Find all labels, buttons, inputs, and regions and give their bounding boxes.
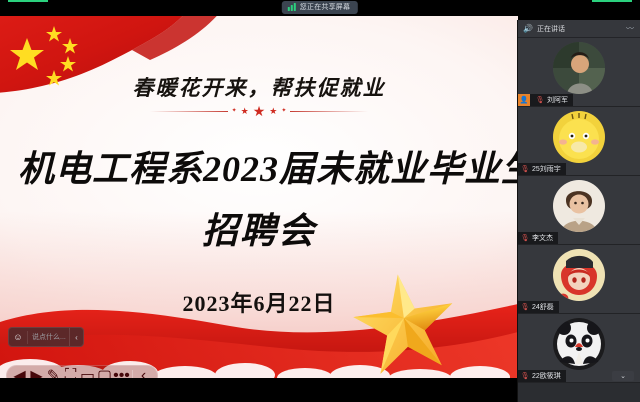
select-tool-button[interactable]: ⛶ <box>62 367 79 378</box>
participant-name: 22欧筱琪 <box>532 371 561 381</box>
participant-name-bar: 🎙 李文杰 <box>518 232 558 244</box>
participant-tile[interactable]: 🎙 22欧筱琪 ⌄ <box>518 314 640 383</box>
host-badge-icon: 👤 <box>518 94 530 106</box>
participant-name: 李文杰 <box>532 233 553 243</box>
sidebar-header: 🔊 正在讲话 〰 <box>518 20 640 38</box>
top-bar: 您正在共享屏幕 <box>0 0 640 16</box>
participant-name: 刘阿军 <box>547 95 568 105</box>
slide-subtitle: 春暖花开来，帮扶促就业 <box>0 72 518 102</box>
participant-tile[interactable]: 🎙 李文杰 <box>518 176 640 245</box>
chevron-down-icon[interactable]: ⌄ <box>612 371 634 381</box>
divider-star-4: ★ <box>269 107 277 116</box>
chat-collapse-icon[interactable]: ‹ <box>69 328 83 346</box>
signal-bars-icon <box>288 3 296 11</box>
mic-muted-icon: 🎙 <box>521 234 529 242</box>
divider-star-2: ★ <box>241 107 249 116</box>
mic-muted-icon: 🎙 <box>521 303 529 311</box>
toolbar-divider <box>132 370 133 378</box>
divider-line-right <box>290 111 368 112</box>
participants-sidebar: 🔊 正在讲话 〰 👤 🎙 刘阿军 <box>517 20 640 402</box>
screen-share-meeting-window: 您正在共享屏幕 <box>0 0 640 402</box>
photo-person-avatar <box>553 42 605 94</box>
divider-star-5: ✦ <box>281 108 286 114</box>
slide-title-line-1: 机电工程系2023届未就业毕业生 <box>18 140 518 192</box>
mic-muted-icon: 🎙 <box>536 96 544 104</box>
next-page-button[interactable]: ▶ <box>28 367 45 378</box>
participant-tile[interactable]: 🎙 25刘雨宇 <box>518 107 640 176</box>
divider-star-3: ★ <box>253 104 266 118</box>
slide-text-block: 春暖花开来，帮扶促就业 ✦ ★ ★ ★ ✦ 机电工程系2023届未就业毕业生 招… <box>0 16 518 378</box>
toolbar-collapse-button[interactable]: ‹ <box>135 367 152 378</box>
slide-date: 2023年6月22日 <box>0 286 518 318</box>
participant-tile[interactable]: 👤 🎙 刘阿军 <box>518 38 640 107</box>
screen-share-status-pill[interactable]: 您正在共享屏幕 <box>282 1 358 14</box>
chat-input-placeholder[interactable]: 说点什么... <box>27 331 69 344</box>
share-notice-label: 您正在共享屏幕 <box>300 3 350 12</box>
star-divider: ✦ ★ ★ ★ ✦ <box>0 104 518 118</box>
participant-name: 24舒磊 <box>532 302 554 312</box>
mic-muted-icon: 🎙 <box>521 372 529 380</box>
screen-share-button[interactable]: ▭ <box>79 367 96 378</box>
participant-name-bar: 🎙 24舒磊 <box>518 301 559 313</box>
panda-avatar <box>553 318 605 370</box>
presentation-slide: 春暖花开来，帮扶促就业 ✦ ★ ★ ★ ✦ 机电工程系2023届未就业毕业生 招… <box>0 16 518 378</box>
mic-muted-icon: 🎙 <box>521 165 529 173</box>
participant-name-bar: 🎙 25刘雨宇 <box>518 163 566 175</box>
speaker-icon: 🔊 <box>524 24 532 33</box>
slide-title-line-2: 招聘会 <box>0 202 518 254</box>
green-indicator-left <box>8 0 48 2</box>
participant-name: 25刘雨宇 <box>532 164 561 174</box>
red-hair-anime-avatar <box>553 249 605 301</box>
illustration-person-avatar <box>553 180 605 232</box>
yellow-duck-avatar <box>553 111 605 163</box>
chat-input-bar[interactable]: ☺ 说点什么... ‹ <box>8 327 84 347</box>
green-indicator-right <box>592 0 632 2</box>
annotation-toolbar[interactable]: ◀ ▶ ✎ ⛶ ▭ ▢ ••• ‹ <box>6 365 158 378</box>
participant-name-bar: 👤 🎙 刘阿军 <box>518 94 573 106</box>
prev-page-button[interactable]: ◀ <box>11 367 28 378</box>
more-options-button[interactable]: ••• <box>113 367 130 378</box>
chat-button[interactable]: ▢ <box>96 367 113 378</box>
participant-name-bar: 🎙 22欧筱琪 <box>518 370 566 382</box>
divider-line-left <box>150 111 228 112</box>
sound-wave-icon: 〰 <box>626 23 634 34</box>
emoji-icon[interactable]: ☺ <box>9 332 27 342</box>
divider-star-1: ✦ <box>232 108 237 114</box>
participant-tile[interactable]: 🎙 24舒磊 <box>518 245 640 314</box>
pen-tool-button[interactable]: ✎ <box>45 367 62 378</box>
sidebar-header-label: 正在讲话 <box>537 24 621 34</box>
shared-screen-stage: 春暖花开来，帮扶促就业 ✦ ★ ★ ★ ✦ 机电工程系2023届未就业毕业生 招… <box>0 16 518 378</box>
